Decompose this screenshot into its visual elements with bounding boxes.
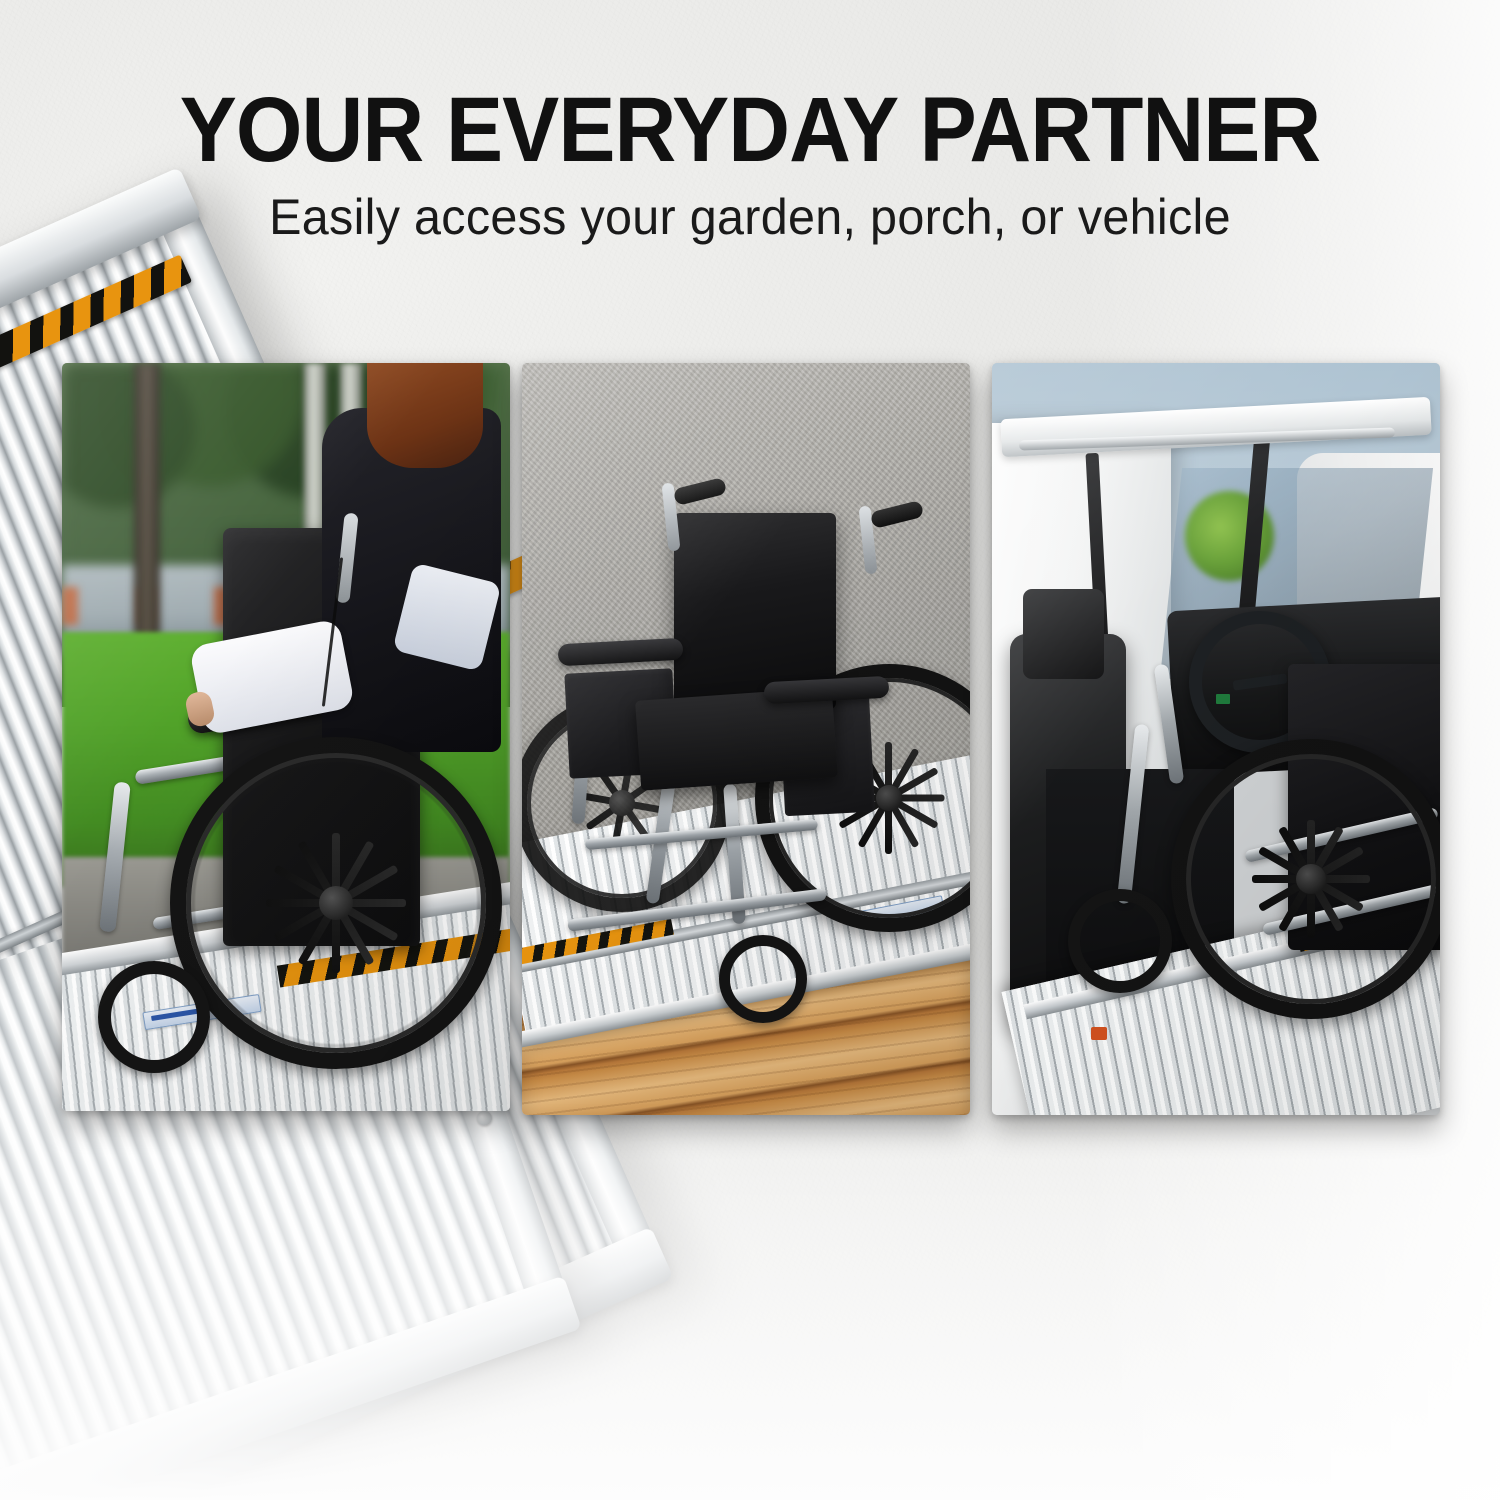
orange-reflector — [1091, 1027, 1107, 1040]
page-subtitle: Easily access your garden, porch, or veh… — [23, 192, 1478, 242]
marketing-banner: YOUR EVERYDAY PARTNER Easily access your… — [0, 0, 1500, 1500]
wheel-hub — [1296, 864, 1326, 894]
wheelchair-seat — [636, 687, 839, 791]
wheel-hub — [876, 785, 902, 811]
panel-park-access[interactable] — [62, 363, 510, 1111]
wheelchair-caster-wheel — [719, 935, 807, 1023]
wheel-hub — [609, 790, 635, 816]
wheelchair-caster-wheel — [1068, 889, 1172, 993]
panel-vehicle-access[interactable] — [992, 363, 1440, 1115]
wheelchair-rear-wheel — [170, 737, 502, 1069]
wheelchair-caster-wheel — [98, 961, 210, 1073]
wheelchair-rear-wheel — [1171, 739, 1440, 1019]
page-title: YOUR EVERYDAY PARTNER — [53, 84, 1448, 176]
person-hair — [367, 363, 483, 468]
seat-headrest — [1023, 589, 1104, 679]
header: YOUR EVERYDAY PARTNER Easily access your… — [0, 0, 1500, 300]
green-product-label — [1216, 694, 1230, 704]
wheel-hub — [319, 886, 353, 920]
panel-porch-access[interactable] — [522, 363, 970, 1115]
